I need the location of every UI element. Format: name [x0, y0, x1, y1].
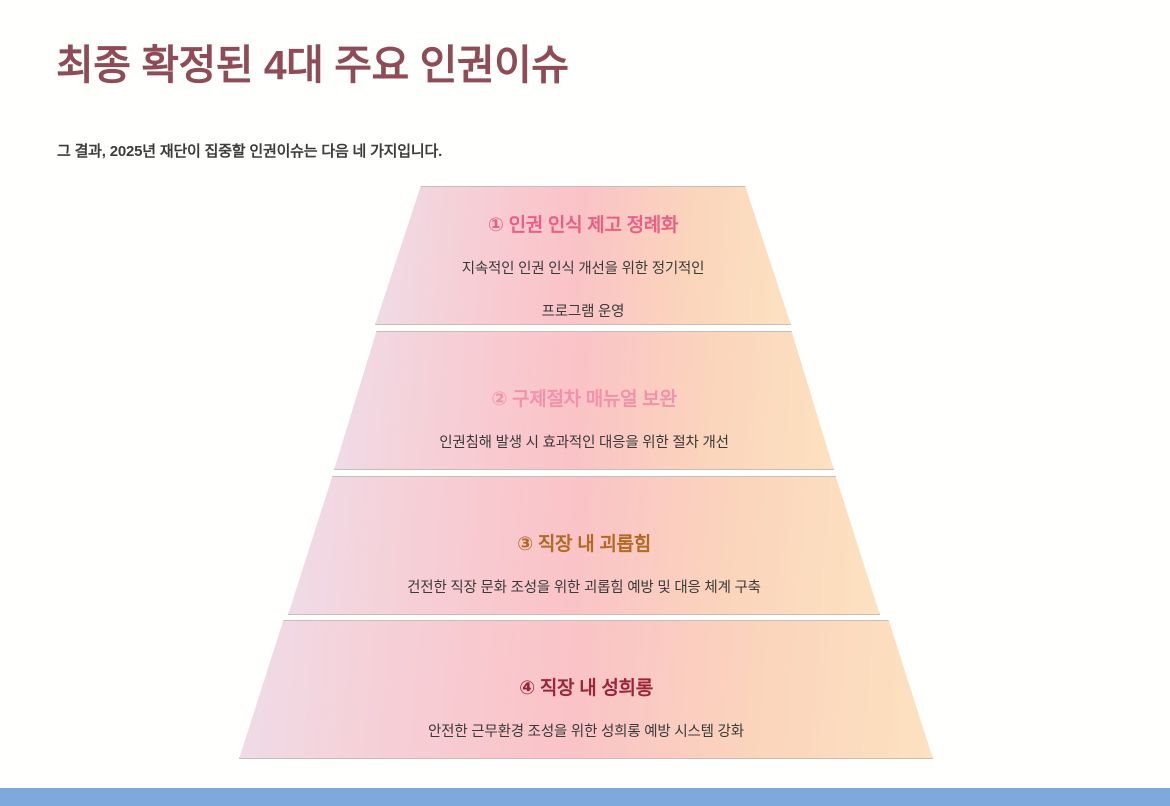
pyramid-layer-2[interactable]: ② 구제절차 매뉴얼 보완 인권침해 발생 시 효과적인 대응을 위한 절차 개… — [334, 331, 834, 470]
page-subtitle: 그 결과, 2025년 재단이 집중할 인권이슈는 다음 네 가지입니다. — [57, 140, 442, 161]
pyramid-layer-4-desc-line1: 안전한 근무환경 조성을 위한 성희롱 예방 시스템 강화 — [428, 720, 744, 741]
pyramid-diagram: ① 인권 인식 제고 정례화 지속적인 인권 인식 개선을 위한 정기적인 프로… — [0, 0, 1170, 806]
page-title: 최종 확정된 4대 주요 인권이슈 — [56, 42, 569, 89]
pyramid-layer-1-desc-line1: 지속적인 인권 인식 개선을 위한 정기적인 — [462, 257, 705, 278]
pyramid-layer-3-desc-line1: 건전한 직장 문화 조성을 위한 괴롭힘 예방 및 대응 체계 구축 — [407, 576, 761, 597]
pyramid-layer-1-title: ① 인권 인식 제고 정례화 — [488, 210, 678, 237]
pyramid-layer-3-title: ③ 직장 내 괴롭힘 — [517, 529, 651, 556]
pyramid-layer-3[interactable]: ③ 직장 내 괴롭힘 건전한 직장 문화 조성을 위한 괴롭힘 예방 및 대응 … — [288, 476, 880, 615]
pyramid-layer-1-desc-line2: 프로그램 운영 — [542, 300, 625, 321]
pyramid-layer-2-title: ② 구제절차 매뉴얼 보완 — [491, 384, 676, 411]
pyramid-layer-4[interactable]: ④ 직장 내 성희롱 안전한 근무환경 조성을 위한 성희롱 예방 시스템 강화 — [239, 620, 933, 759]
pyramid-layer-2-desc-line1: 인권침해 발생 시 효과적인 대응을 위한 절차 개선 — [439, 431, 729, 452]
pyramid-layer-1[interactable]: ① 인권 인식 제고 정례화 지속적인 인권 인식 개선을 위한 정기적인 프로… — [375, 186, 791, 325]
slide-canvas: 최종 확정된 4대 주요 인권이슈 그 결과, 2025년 재단이 집중할 인권… — [0, 0, 1170, 806]
pyramid-layer-4-title: ④ 직장 내 성희롱 — [519, 673, 653, 700]
footer-accent-bar — [0, 788, 1170, 806]
